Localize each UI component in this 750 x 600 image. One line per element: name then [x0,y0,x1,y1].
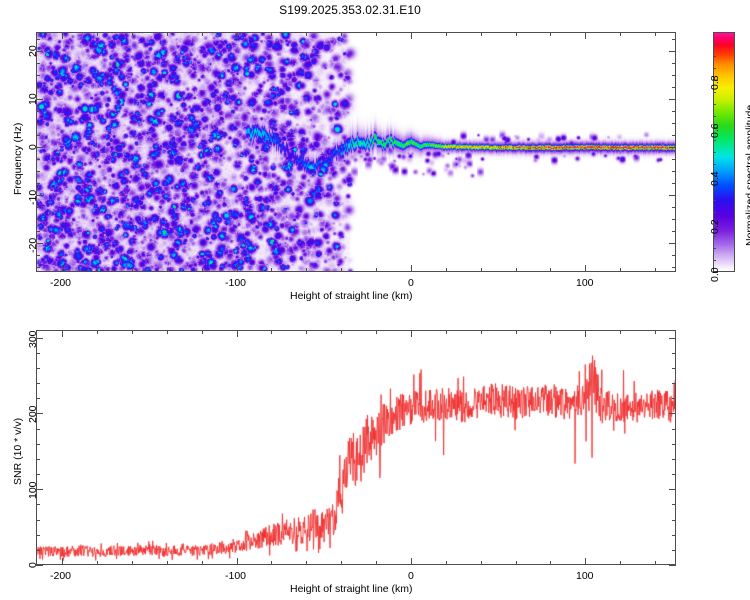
axis-tick [202,268,203,272]
axis-tick [669,243,676,244]
axis-tick [672,255,676,256]
axis-tick [36,550,40,551]
axis-tick [669,413,676,414]
snr-xaxis-label: Height of straight line (km) [290,583,413,595]
axis-tick [672,171,676,172]
axis-tick [672,474,676,475]
axis-tick [585,32,586,39]
axis-tick [672,207,676,208]
axis-tick-label: 10 [27,94,39,106]
axis-tick [411,558,412,565]
axis-tick [713,140,716,141]
axis-tick [36,231,40,232]
axis-tick [132,330,133,334]
axis-tick [97,32,98,36]
axis-tick [672,123,676,124]
axis-tick [62,265,63,272]
axis-tick [36,520,40,521]
axis-tick [167,268,168,272]
axis-tick [672,135,676,136]
axis-tick [620,330,621,334]
axis-tick [713,104,716,105]
axis-tick [669,51,676,52]
axis-tick-label: 100 [27,481,39,499]
axis-tick [62,32,63,39]
axis-tick-label: 100 [576,277,594,289]
axis-tick [481,561,482,565]
axis-tick [167,561,168,565]
axis-tick-label: 200 [27,405,39,423]
axis-tick-label: 300 [27,330,39,348]
axis-tick [672,368,676,369]
axis-tick [585,558,586,565]
axis-tick [411,32,412,39]
axis-tick [655,561,656,565]
axis-tick [672,75,676,76]
axis-tick [669,489,676,490]
axis-tick [713,68,716,69]
axis-tick [620,561,621,565]
axis-tick [36,267,40,268]
axis-tick [672,87,676,88]
axis-tick-label: 0 [408,277,414,289]
axis-tick [132,561,133,565]
axis-tick [516,268,517,272]
snr-yaxis-label: SNR (10 * v/v) [12,418,24,485]
axis-tick [672,353,676,354]
axis-tick [376,32,377,36]
axis-tick [481,32,482,36]
axis-tick [306,268,307,272]
axis-tick-label: 0 [27,144,39,150]
axis-tick [237,330,238,337]
axis-tick [97,330,98,334]
axis-tick [36,75,40,76]
axis-tick [620,268,621,272]
axis-tick [36,353,40,354]
axis-tick [713,260,716,261]
axis-tick [306,32,307,36]
axis-tick [446,561,447,565]
axis-tick [713,116,716,117]
axis-tick [713,248,716,249]
axis-tick [36,39,40,40]
axis-tick [672,111,676,112]
axis-tick [481,268,482,272]
axis-tick-label: -100 [225,277,246,289]
axis-tick [271,268,272,272]
axis-tick [36,123,40,124]
axis-tick [237,32,238,39]
axis-tick [669,147,676,148]
axis-tick [516,32,517,36]
axis-tick [341,561,342,565]
axis-tick [97,561,98,565]
axis-tick [672,398,676,399]
axis-tick [713,200,716,201]
axis-tick [97,268,98,272]
axis-tick [341,330,342,334]
spectrogram-plot-area [36,32,676,272]
axis-tick [36,183,40,184]
axis-tick [36,87,40,88]
axis-tick [516,561,517,565]
axis-tick [672,535,676,536]
axis-tick [132,32,133,36]
axis-tick-label: 0.8 [709,75,721,90]
axis-tick [672,504,676,505]
axis-tick [62,558,63,565]
axis-tick [713,56,716,57]
axis-tick [516,330,517,334]
axis-tick [446,330,447,334]
axis-tick [36,368,40,369]
axis-tick [672,63,676,64]
axis-tick-label: 0 [408,570,414,582]
axis-tick [36,159,40,160]
colorbar [713,32,735,272]
axis-tick [36,135,40,136]
axis-tick-label: -200 [50,570,71,582]
axis-tick [672,383,676,384]
figure-title: S199.2025.353.02.31.E10 [0,3,700,17]
axis-tick-label: 0.0 [709,267,721,282]
axis-tick [36,459,40,460]
spectrogram-yaxis-label: Frequency (Hz) [12,123,24,195]
axis-tick [672,159,676,160]
axis-tick [672,444,676,445]
axis-tick [36,171,40,172]
axis-tick [713,152,716,153]
axis-tick [669,338,676,339]
snr-trace-line [37,331,675,564]
axis-tick [271,330,272,334]
axis-tick [36,504,40,505]
axis-tick [672,219,676,220]
axis-tick [672,459,676,460]
axis-tick [550,32,551,36]
axis-tick [271,561,272,565]
snr-plot-area [36,330,676,565]
axis-tick [202,32,203,36]
axis-tick [446,268,447,272]
axis-tick [655,268,656,272]
colorbar-title: Normalized spectral amplitude [744,105,750,246]
axis-tick-label: -10 [27,189,39,204]
axis-tick-label: 0.6 [709,123,721,138]
axis-tick [341,32,342,36]
axis-tick [376,330,377,334]
axis-tick [341,268,342,272]
axis-tick [669,195,676,196]
axis-tick [550,268,551,272]
axis-tick [672,550,676,551]
axis-tick [713,164,716,165]
axis-tick [36,383,40,384]
axis-tick [36,429,40,430]
axis-tick [672,231,676,232]
axis-tick [237,558,238,565]
axis-tick [36,535,40,536]
axis-tick [202,561,203,565]
axis-tick [713,236,716,237]
axis-tick [36,207,40,208]
axis-tick [271,32,272,36]
axis-tick [585,330,586,337]
axis-tick [585,265,586,272]
axis-tick [620,32,621,36]
axis-tick [306,561,307,565]
axis-tick-label: 20 [27,46,39,58]
axis-tick [481,330,482,334]
axis-tick-label: -100 [225,570,246,582]
axis-tick [672,39,676,40]
axis-tick [36,111,40,112]
axis-tick [36,474,40,475]
axis-tick [132,268,133,272]
axis-tick [446,32,447,36]
spectrogram-image [37,33,675,271]
axis-tick [36,219,40,220]
axis-tick [36,255,40,256]
axis-tick [306,330,307,334]
axis-tick [167,330,168,334]
figure-root: S199.2025.353.02.31.E10 -200-1000100-20-… [0,0,750,600]
axis-tick [36,63,40,64]
axis-tick [36,444,40,445]
axis-tick [550,330,551,334]
axis-tick [713,188,716,189]
axis-tick-label: 100 [576,570,594,582]
axis-tick [655,32,656,36]
spectrogram-xaxis-label: Height of straight line (km) [290,290,413,302]
axis-tick [655,330,656,334]
axis-tick [376,561,377,565]
axis-tick [672,183,676,184]
axis-tick [672,520,676,521]
axis-tick [669,565,676,566]
axis-tick-label: 0.4 [709,171,721,186]
axis-tick-label: -200 [50,277,71,289]
axis-tick [672,267,676,268]
axis-tick [167,32,168,36]
axis-tick-label: 0.2 [709,219,721,234]
axis-tick-label: -20 [27,237,39,252]
axis-tick [672,429,676,430]
axis-tick-label: 0 [27,562,39,568]
axis-tick [713,44,716,45]
axis-tick [669,99,676,100]
axis-tick [411,265,412,272]
axis-tick [376,268,377,272]
axis-tick [237,265,238,272]
axis-tick [202,330,203,334]
axis-tick [36,398,40,399]
axis-tick [713,92,716,93]
axis-tick [62,330,63,337]
axis-tick [550,561,551,565]
axis-tick [713,212,716,213]
axis-tick [411,330,412,337]
